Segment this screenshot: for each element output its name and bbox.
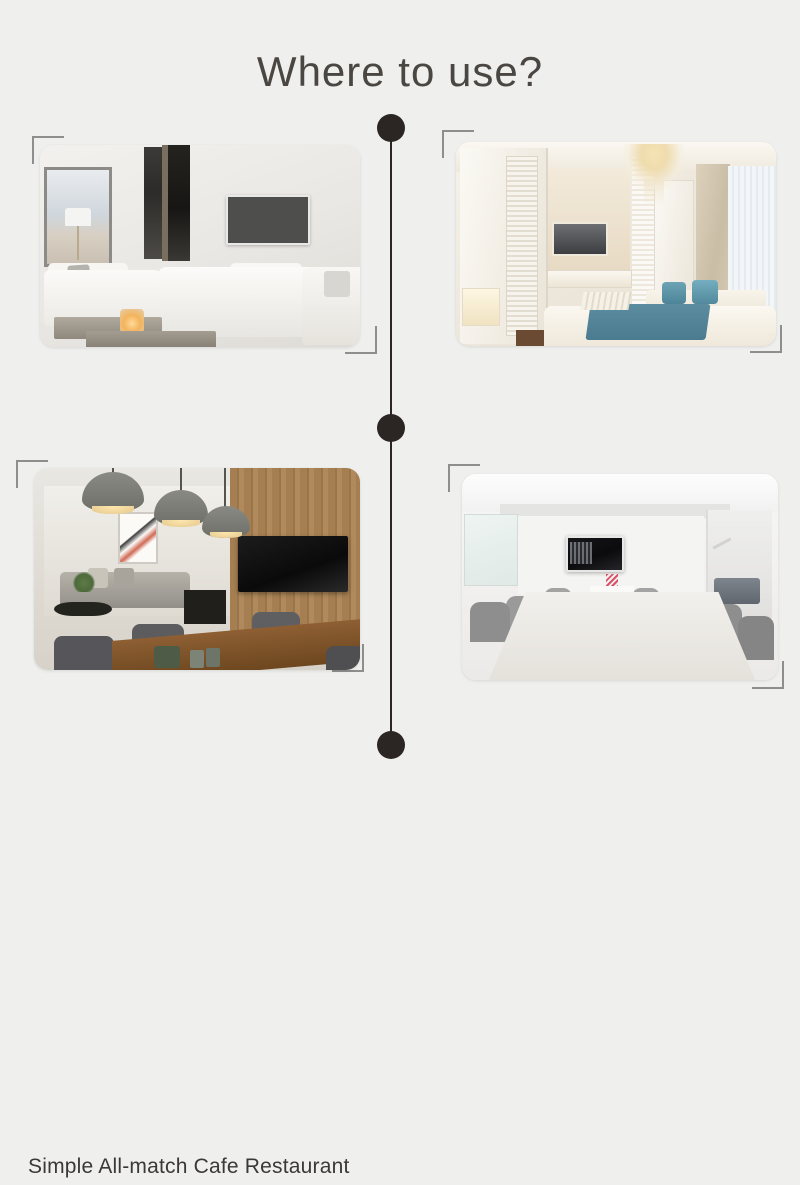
dark-credenza bbox=[184, 590, 226, 624]
tv-screen-reflection bbox=[570, 542, 592, 564]
patterned-pillow bbox=[324, 271, 350, 297]
dining-chair-left bbox=[54, 636, 114, 670]
photo-cafe-restaurant bbox=[34, 468, 360, 670]
floor-lamp-pole bbox=[77, 226, 79, 260]
coffee-table-lower bbox=[86, 331, 216, 347]
cup-right bbox=[206, 648, 220, 667]
caption-cafe-restaurant: Simple All-match Cafe Restaurant bbox=[28, 1155, 350, 1179]
cup-left bbox=[190, 650, 204, 668]
wall-mounted-tv bbox=[552, 222, 608, 256]
scene-living-room bbox=[40, 145, 360, 347]
conference-table bbox=[488, 592, 756, 680]
teal-cushion-right bbox=[692, 280, 718, 304]
poster-root: Where to use? bbox=[0, 0, 800, 800]
pendant-cord-2 bbox=[180, 468, 182, 492]
scene-cafe-restaurant bbox=[34, 468, 360, 670]
dark-wall-panel-right bbox=[168, 145, 190, 261]
lit-display-niche bbox=[462, 288, 500, 326]
louvered-door bbox=[506, 156, 538, 336]
photo-bedroom-hotel bbox=[456, 142, 776, 346]
pendant-lamp-2-glow bbox=[162, 520, 200, 527]
teal-cushion-left bbox=[662, 282, 686, 304]
scene-conference-room bbox=[462, 474, 778, 680]
chandelier-drop bbox=[644, 180, 664, 206]
glass-whiteboard bbox=[464, 514, 518, 586]
wall-mounted-tv bbox=[238, 536, 348, 592]
dark-wall-panel-left bbox=[144, 147, 162, 259]
folded-towels bbox=[580, 292, 631, 310]
scene-bedroom-hotel bbox=[456, 142, 776, 346]
sofa-cushion-dark bbox=[114, 568, 134, 588]
timeline-dot-top bbox=[377, 114, 405, 142]
photo-living-room bbox=[40, 145, 360, 347]
potted-plant bbox=[72, 572, 96, 592]
wall-mirror bbox=[44, 167, 112, 267]
pendant-lamp-3-glow bbox=[210, 532, 242, 538]
pendant-lamp-1-glow bbox=[92, 506, 134, 514]
dining-chair-right bbox=[326, 646, 360, 670]
framed-artwork bbox=[118, 512, 158, 564]
candle-decor bbox=[120, 309, 144, 333]
vanity-desk bbox=[546, 270, 632, 288]
timeline-dot-bottom bbox=[377, 731, 405, 759]
page-title: Where to use? bbox=[0, 48, 800, 96]
sofa-right-section bbox=[158, 267, 318, 337]
conference-chair-left-1 bbox=[470, 602, 510, 642]
teapot bbox=[154, 646, 180, 668]
pendant-cord-3 bbox=[224, 468, 226, 508]
round-coffee-table bbox=[54, 602, 112, 616]
floor-lamp-shade bbox=[65, 208, 91, 226]
photo-conference-room bbox=[462, 474, 778, 680]
wall-mounted-tv bbox=[226, 195, 310, 245]
timeline-dot-middle bbox=[377, 414, 405, 442]
